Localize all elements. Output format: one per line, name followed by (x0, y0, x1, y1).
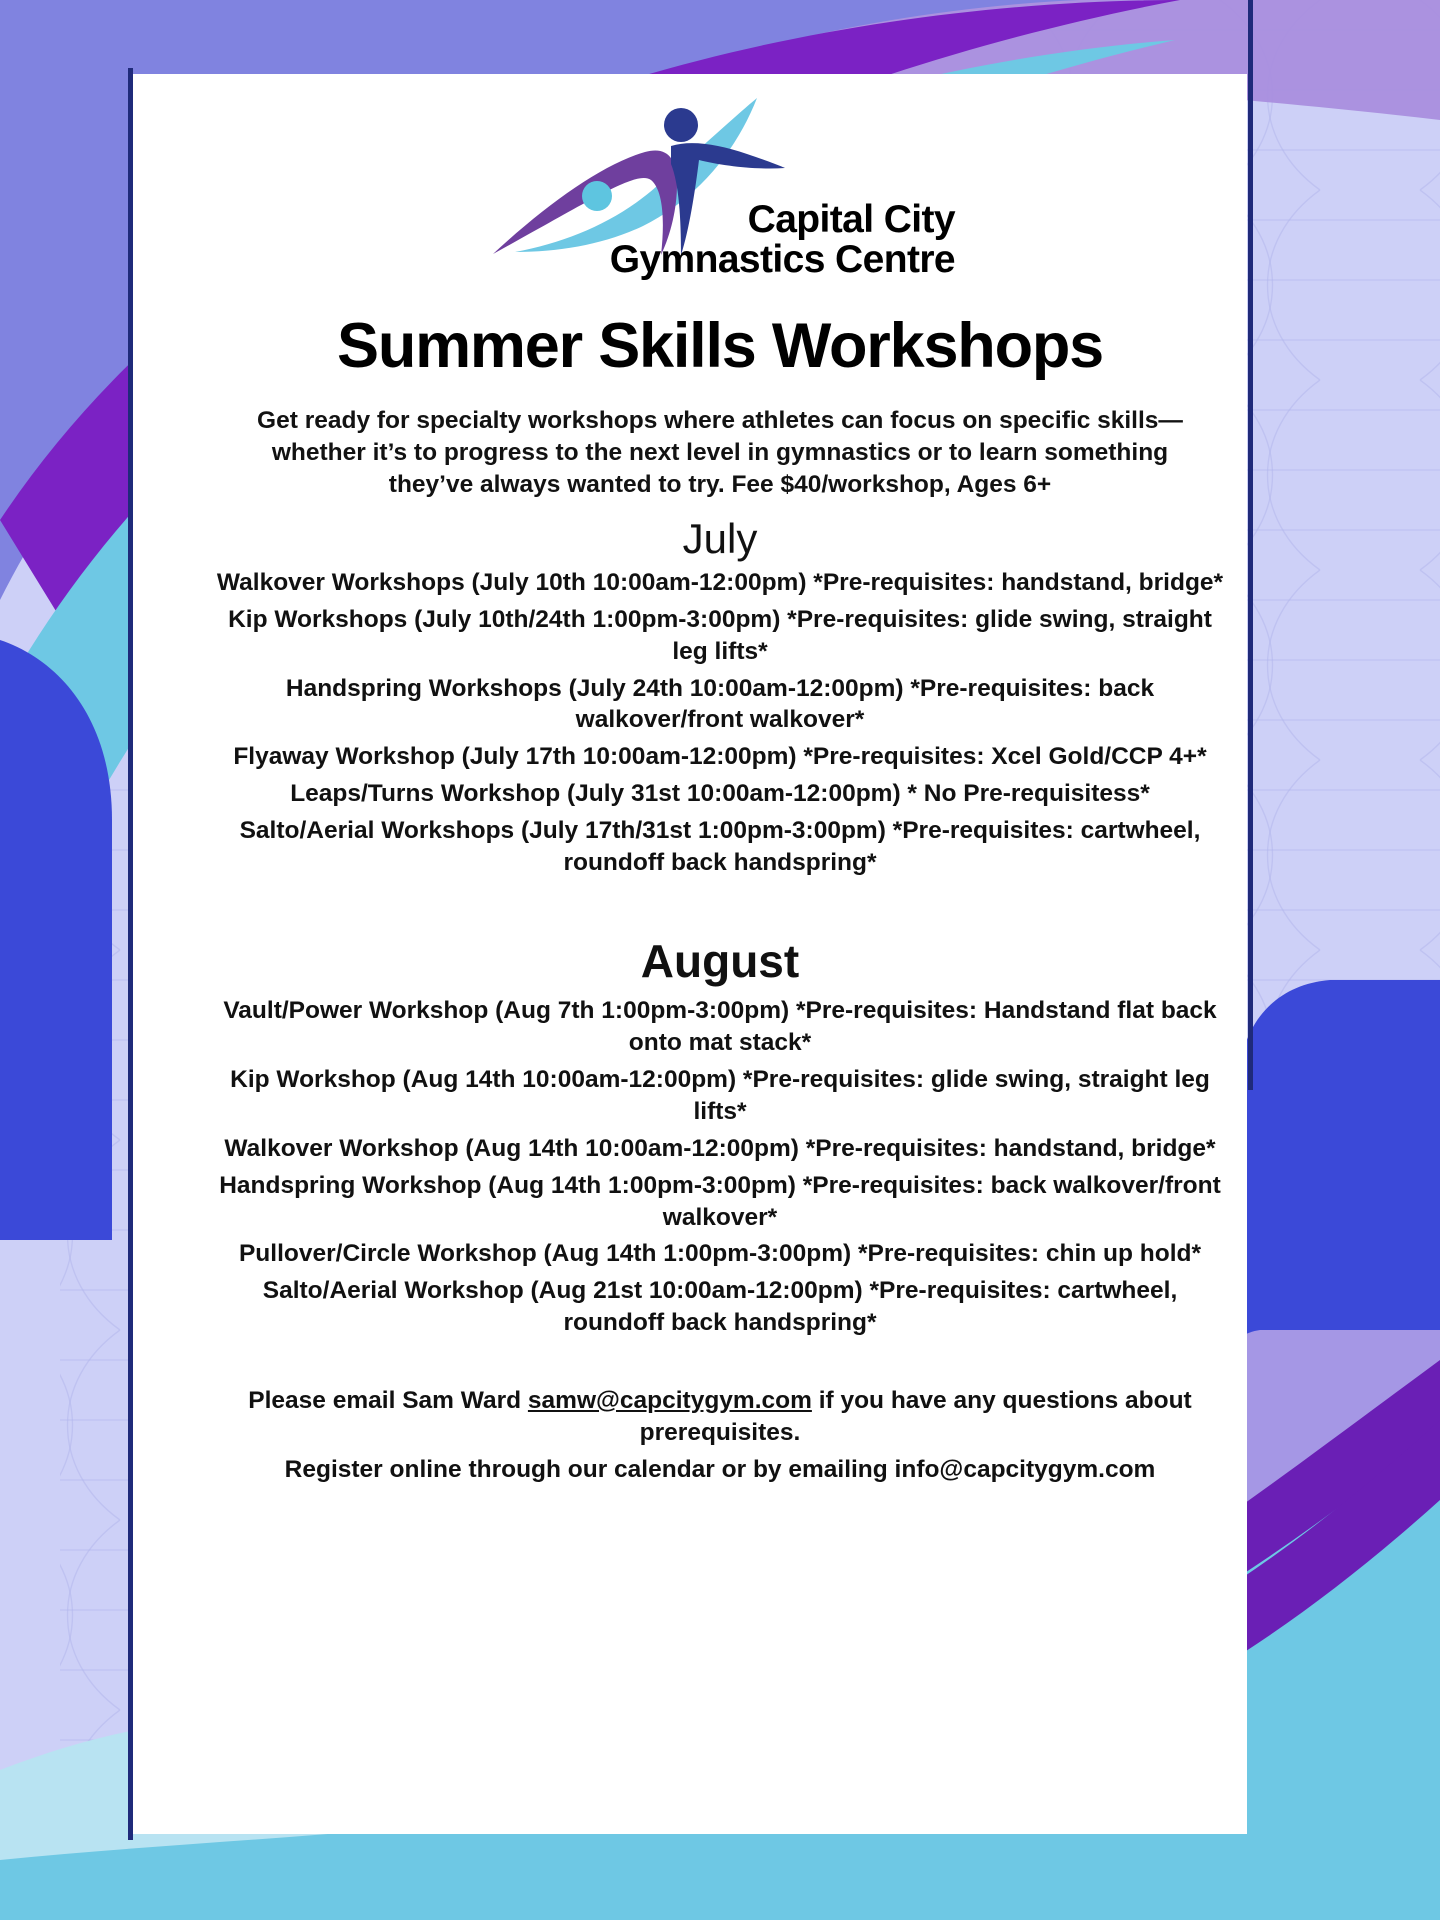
section-heading-july: July (175, 515, 1265, 563)
workshop-entry: Walkover Workshops (July 10th 10:00am-12… (210, 567, 1230, 599)
workshop-entry: Kip Workshops (July 10th/24th 1:00pm-3:0… (210, 604, 1230, 668)
page-title: Summer Skills Workshops (175, 313, 1265, 379)
brand-line-1: Capital City (485, 200, 955, 240)
contact-email-link[interactable]: samw@capcitygym.com (528, 1387, 812, 1414)
workshop-entry: Pullover/Circle Workshop (Aug 14th 1:00p… (210, 1238, 1230, 1270)
contact-line: Please email Sam Ward samw@capcitygym.co… (210, 1385, 1230, 1449)
brand-name: Capital City Gymnastics Centre (485, 200, 955, 280)
brand-logo: Capital City Gymnastics Centre (485, 92, 955, 307)
workshop-entry: Vault/Power Workshop (Aug 7th 1:00pm-3:0… (210, 995, 1230, 1059)
poster-content: Capital City Gymnastics Centre Summer Sk… (175, 92, 1265, 1490)
workshop-entry: Kip Workshop (Aug 14th 10:00am-12:00pm) … (210, 1064, 1230, 1128)
workshop-entry: Handspring Workshops (July 24th 10:00am-… (210, 673, 1230, 737)
brand-line-2: Gymnastics Centre (485, 240, 955, 280)
workshop-entry: Handspring Workshop (Aug 14th 1:00pm-3:0… (210, 1170, 1230, 1234)
poster-canvas: Capital City Gymnastics Centre Summer Sk… (0, 0, 1440, 1920)
intro-paragraph: Get ready for specialty workshops where … (230, 405, 1210, 501)
register-line: Register online through our calendar or … (210, 1454, 1230, 1486)
workshop-entry: Walkover Workshop (Aug 14th 10:00am-12:0… (210, 1133, 1230, 1165)
section-heading-august: August (175, 935, 1265, 988)
workshop-entry: Leaps/Turns Workshop (July 31st 10:00am-… (210, 778, 1230, 810)
workshop-entry: Salto/Aerial Workshop (Aug 21st 10:00am-… (210, 1275, 1230, 1339)
workshop-entry: Salto/Aerial Workshops (July 17th/31st 1… (210, 815, 1230, 879)
contact-prefix: Please email Sam Ward (248, 1387, 528, 1414)
footer-contact: Please email Sam Ward samw@capcitygym.co… (175, 1385, 1265, 1486)
workshop-entry: Flyaway Workshop (July 17th 10:00am-12:0… (210, 741, 1230, 773)
